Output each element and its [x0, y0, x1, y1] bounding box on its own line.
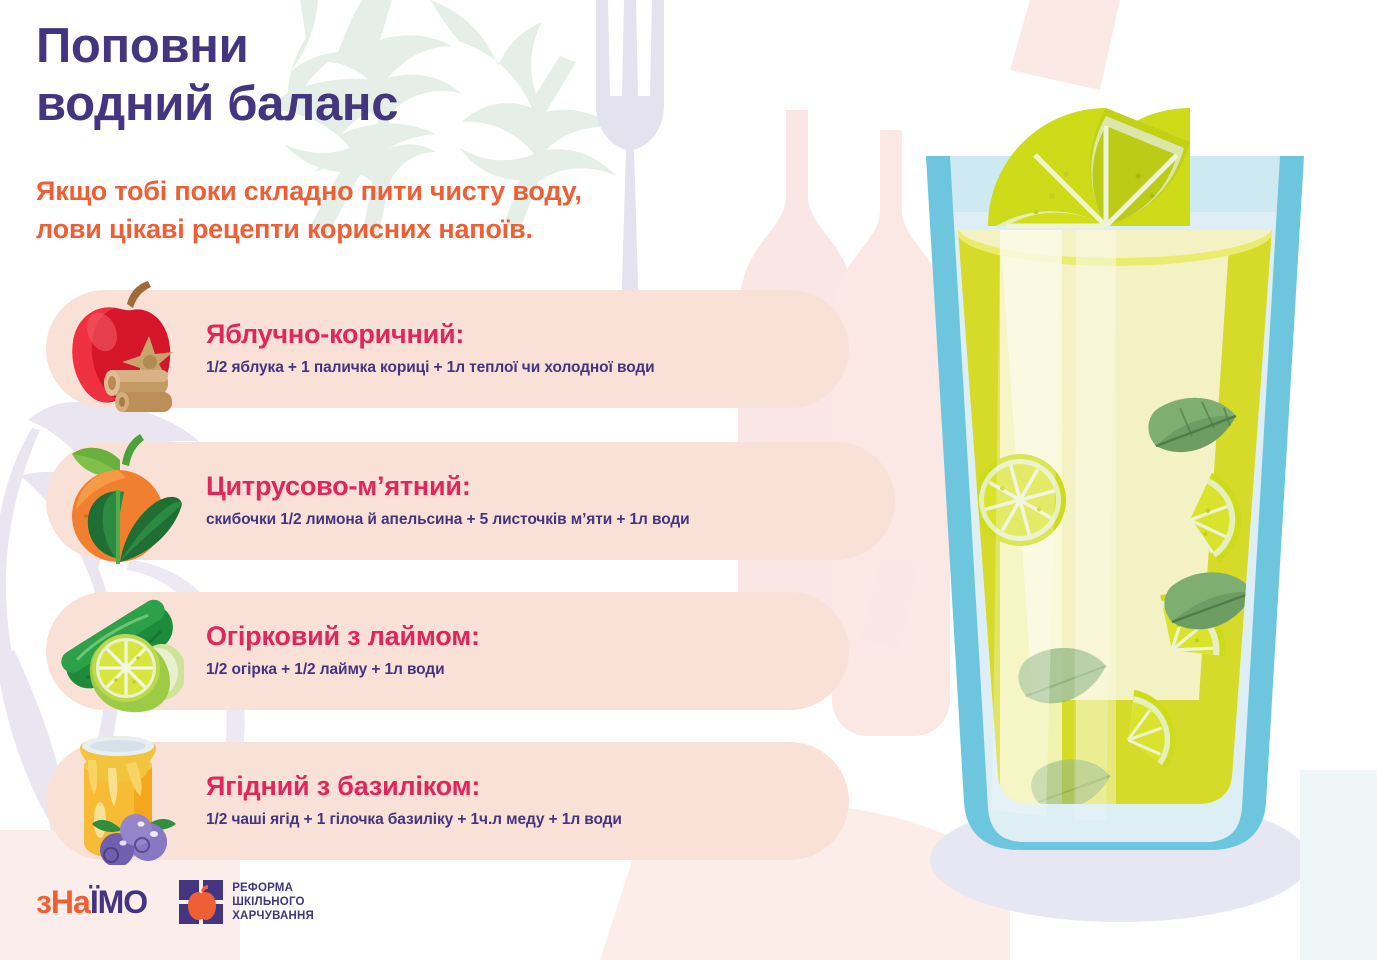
- cucumber-lime-icon: [54, 580, 184, 715]
- recipe-title: Цитрусово-м’ятний:: [206, 472, 690, 502]
- lime-wedge-garnish: [988, 96, 1190, 248]
- orange-mint-icon: [54, 430, 184, 565]
- page-subtitle: Якщо тобі поки складно пити чисту воду, …: [36, 172, 582, 249]
- honey-berry-icon: [54, 730, 184, 865]
- recipe-description: 1/2 яблука + 1 паличка кориці + 1л тепло…: [206, 359, 655, 378]
- recipe-title: Ягідний з базиліком:: [206, 772, 622, 802]
- znaimo-logo-part2: ЇМО: [90, 884, 147, 920]
- recipe-card-cucumber-lime[interactable]: Огірковий з лаймом: 1/2 огірка + 1/2 лай…: [46, 592, 849, 710]
- znaimo-logo[interactable]: зНаЇМО: [36, 886, 147, 918]
- school-food-reform-logo[interactable]: РЕФОРМА ШКІЛЬНОГО ХАРЧУВАННЯ: [179, 880, 314, 924]
- recipe-title: Огірковий з лаймом:: [206, 622, 480, 652]
- infographic-poster: Поповни водний баланс Якщо тобі поки скл…: [0, 0, 1377, 960]
- reform-apple-square-icon: [179, 880, 223, 924]
- apple-cinnamon-icon: [54, 278, 184, 413]
- recipe-title: Яблучно-коричний:: [206, 320, 655, 350]
- lemonade-glass-illustration: [880, 60, 1350, 920]
- recipe-description: 1/2 чаші ягід + 1 гілочка базиліку + 1ч.…: [206, 811, 622, 830]
- reform-logo-text: РЕФОРМА ШКІЛЬНОГО ХАРЧУВАННЯ: [232, 881, 314, 923]
- znaimo-logo-part1: зНа: [36, 884, 90, 920]
- recipe-card-apple-cinnamon[interactable]: Яблучно-коричний: 1/2 яблука + 1 паличка…: [46, 290, 849, 408]
- page-title: Поповни водний баланс: [36, 18, 398, 134]
- recipe-description: 1/2 огірка + 1/2 лайму + 1л води: [206, 661, 480, 680]
- footer-logos: зНаЇМО РЕФОРМА ШКІЛЬНОГО ХАРЧУВАННЯ: [36, 880, 314, 924]
- recipe-card-citrus-mint[interactable]: Цитрусово-м’ятний: скибочки 1/2 лимона й…: [46, 442, 895, 560]
- recipe-card-berry-basil[interactable]: Ягідний з базиліком: 1/2 чаші ягід + 1 г…: [46, 742, 849, 860]
- recipe-description: скибочки 1/2 лимона й апельсина + 5 лист…: [206, 511, 690, 530]
